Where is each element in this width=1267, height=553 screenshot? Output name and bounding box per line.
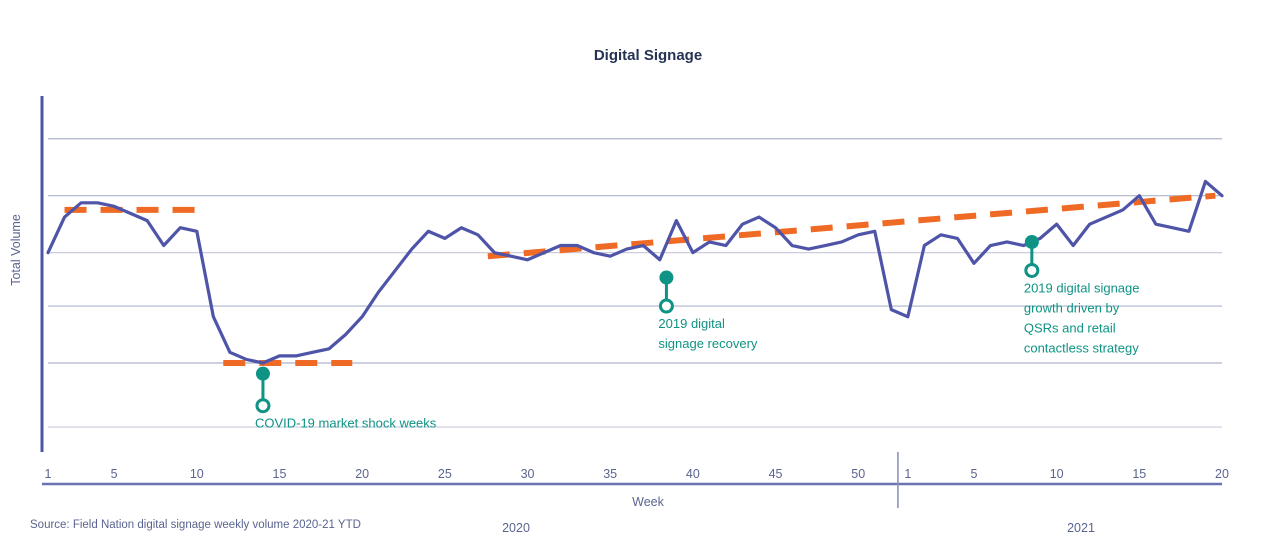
annotation-marker-ring: [660, 300, 672, 312]
trend-lines: [65, 196, 1216, 363]
x-tick-2020: 5: [111, 467, 118, 481]
period-label-2021: 2021: [1067, 521, 1095, 535]
x-tick-2020: 25: [438, 467, 452, 481]
x-tick-2020: 50: [851, 467, 865, 481]
chart-container: Digital Signage Total Volume 15101520253…: [0, 0, 1267, 553]
annotation-text-line: COVID-19 market shock weeks: [255, 416, 437, 431]
x-tick-2021: 1: [904, 467, 911, 481]
y-axis-label: Total Volume: [9, 214, 23, 286]
x-axis-label: Week: [632, 495, 664, 509]
annotation-marker-ring: [1026, 264, 1038, 276]
trend-line-segment: [488, 196, 1216, 257]
x-tick-2021: 5: [970, 467, 977, 481]
annotation-text-line: 2019 digital: [658, 316, 725, 331]
annotation-covid-shock: COVID-19 market shock weeks: [255, 367, 437, 431]
x-tick-2021: 15: [1132, 467, 1146, 481]
page-title: Digital Signage: [594, 47, 702, 64]
x-tick-2020: 45: [769, 467, 783, 481]
digital-signage-line-chart: Digital Signage Total Volume 15101520253…: [0, 0, 1267, 553]
x-tick-2020: 20: [355, 467, 369, 481]
annotation-marker-ring: [257, 400, 269, 412]
x-tick-2021: 20: [1215, 467, 1229, 481]
annotation-text-line: growth driven by: [1024, 300, 1120, 315]
x-tick-2020: 40: [686, 467, 700, 481]
x-tick-2020: 1: [45, 467, 52, 481]
x-tick-2020: 35: [603, 467, 617, 481]
annotation-text-line: contactless strategy: [1024, 340, 1139, 355]
annotation-text-line: QSRs and retail: [1024, 320, 1116, 335]
x-tick-2021: 10: [1050, 467, 1064, 481]
x-tick-2020: 10: [190, 467, 204, 481]
x-tick-2020: 15: [273, 467, 287, 481]
annotation-recovery: 2019 digital signage recovery: [658, 271, 757, 351]
period-label-2020: 2020: [502, 521, 530, 535]
x-tick-2020: 30: [521, 467, 535, 481]
source-note: Source: Field Nation digital signage wee…: [30, 519, 361, 531]
x-axis-tick-labels: 1510152025303540455015101520: [45, 467, 1229, 481]
annotation-text-line: signage recovery: [658, 336, 757, 351]
annotation-text-line: 2019 digital signage: [1024, 280, 1140, 295]
